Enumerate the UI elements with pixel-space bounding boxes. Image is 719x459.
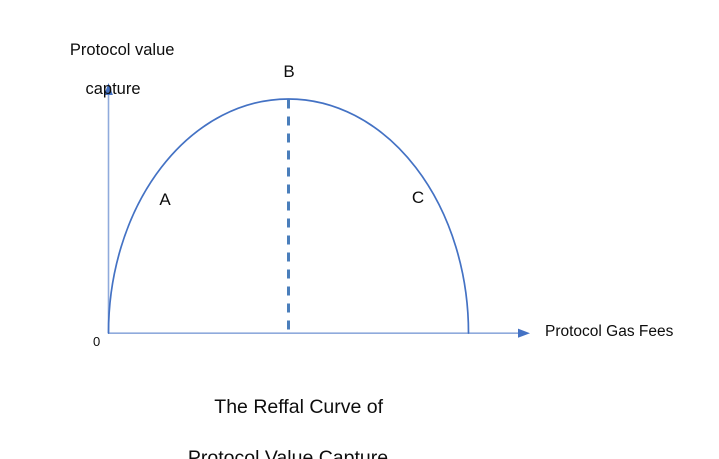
curve-label-b: B <box>276 62 302 82</box>
curve-label-a: A <box>152 190 178 210</box>
y-axis-label: Protocol value capture <box>22 22 204 139</box>
figure-title: The Reffal Curve of Protocol Value Captu… <box>88 370 488 459</box>
curve-label-c: C <box>405 188 431 208</box>
figure-title-line2: Protocol Value Capture <box>88 446 488 459</box>
diagram-canvas: Protocol value capture Protocol Gas Fees… <box>0 0 719 459</box>
y-axis-label-line2: capture <box>22 80 204 99</box>
x-axis <box>108 329 530 338</box>
figure-title-line1: The Reffal Curve of <box>214 396 383 418</box>
x-axis-arrowhead-icon <box>518 329 530 338</box>
origin-label: 0 <box>93 334 100 349</box>
y-axis-label-line1: Protocol value <box>70 41 175 59</box>
x-axis-label: Protocol Gas Fees <box>545 323 673 341</box>
